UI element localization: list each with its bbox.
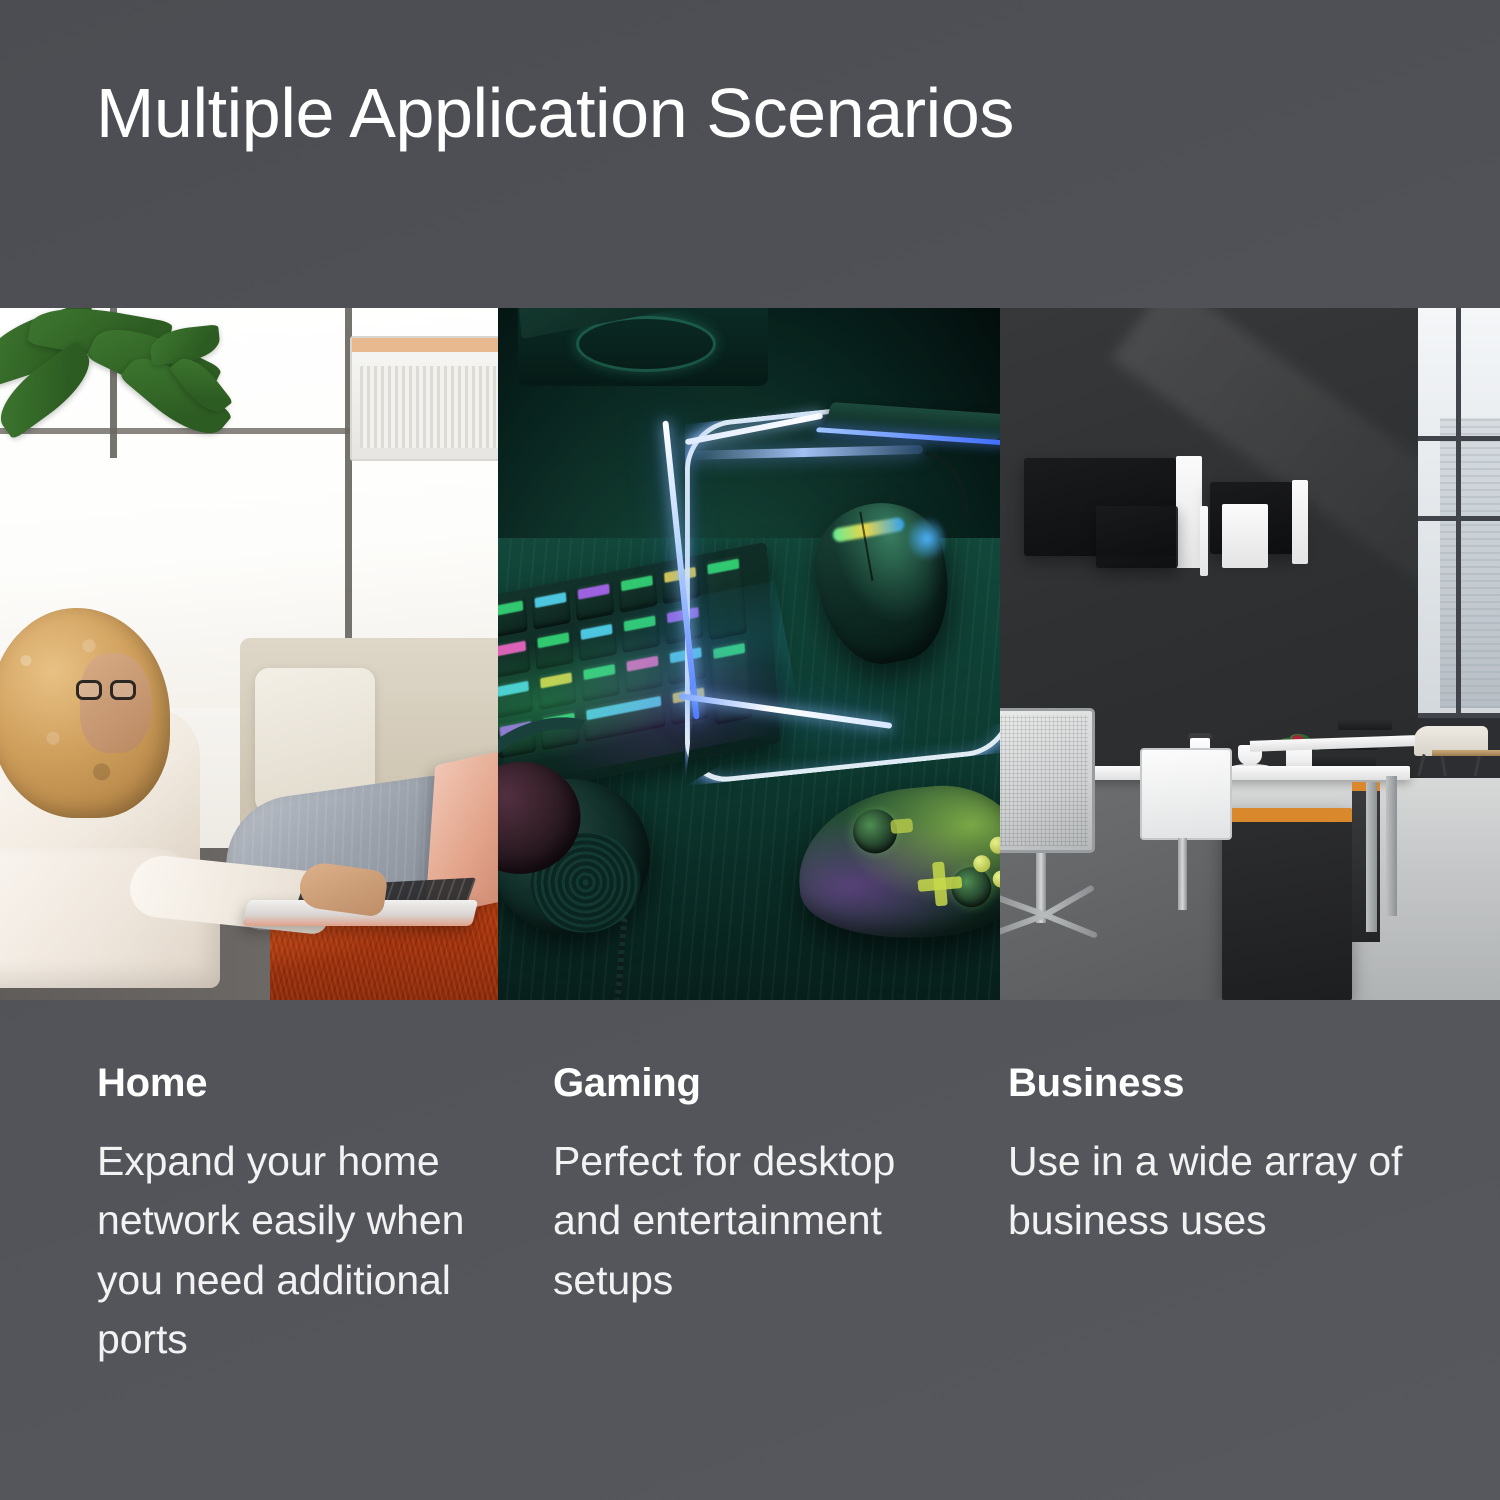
dpad-icon — [916, 860, 964, 908]
column-body-gaming: Perfect for desktop and entertainment se… — [553, 1132, 953, 1310]
column-body-home: Expand your home network easily when you… — [97, 1132, 497, 1370]
desk-leg — [1386, 776, 1397, 916]
window-mullion — [1418, 713, 1500, 718]
wood-bench — [1432, 750, 1500, 756]
chair-post-back — [1178, 838, 1187, 910]
page-title: Multiple Application Scenarios — [96, 78, 1014, 148]
monitor-third — [1096, 506, 1178, 568]
office-chair-back — [1140, 748, 1232, 840]
window-mullion — [1456, 308, 1461, 718]
panel-home-image — [0, 308, 498, 1000]
document-tray — [1338, 720, 1392, 730]
column-heading-gaming: Gaming — [553, 1062, 953, 1104]
desk-divider — [1222, 504, 1268, 568]
window-mullion — [1418, 436, 1500, 441]
column-heading-business: Business — [1008, 1062, 1408, 1104]
desk-light-bar — [825, 402, 1000, 440]
ac-vents — [360, 366, 498, 448]
face-buttons — [971, 834, 1000, 891]
panel-business-image — [1000, 308, 1500, 1000]
lounge-chair-legs — [1418, 754, 1484, 776]
speaker-ring — [576, 316, 716, 372]
chair-base — [1000, 908, 1110, 966]
panel-gaming-image — [498, 308, 1000, 1000]
mouse-rgb-strip — [832, 517, 905, 543]
air-conditioner — [350, 336, 498, 461]
window-mullion — [1418, 516, 1500, 521]
home-scene-illustration — [0, 308, 498, 1000]
divider-panel — [1200, 506, 1208, 576]
monitor-back-panel — [1176, 456, 1202, 568]
gaming-scene-illustration — [498, 308, 1000, 1000]
monitor-back-panel — [1292, 480, 1308, 564]
column-home: Home Expand your home network easily whe… — [97, 1062, 497, 1370]
title-bar: Multiple Application Scenarios — [0, 0, 1500, 308]
person-face — [80, 653, 152, 753]
city-skyline-view — [1440, 418, 1500, 708]
eyeglasses-icon — [76, 680, 138, 702]
office-chair-front — [1000, 708, 1095, 853]
desk-leg — [1366, 782, 1377, 932]
ac-top-band — [352, 338, 498, 352]
application-scenarios-page: Multiple Application Scenarios — [0, 0, 1500, 1500]
column-gaming: Gaming Perfect for desktop and entertain… — [553, 1062, 953, 1310]
controller-center-button — [890, 818, 913, 834]
column-body-business: Use in a wide array of business uses — [1008, 1132, 1408, 1251]
scenario-image-strip — [0, 308, 1500, 1000]
gaming-headphones — [498, 727, 698, 949]
desk-cabinet-orange — [1222, 808, 1352, 1000]
column-heading-home: Home — [97, 1062, 497, 1104]
office-scene-illustration — [1000, 308, 1500, 1000]
scenario-description-columns: Home Expand your home network easily whe… — [0, 1000, 1500, 1500]
column-business: Business Use in a wide array of business… — [1008, 1062, 1408, 1251]
